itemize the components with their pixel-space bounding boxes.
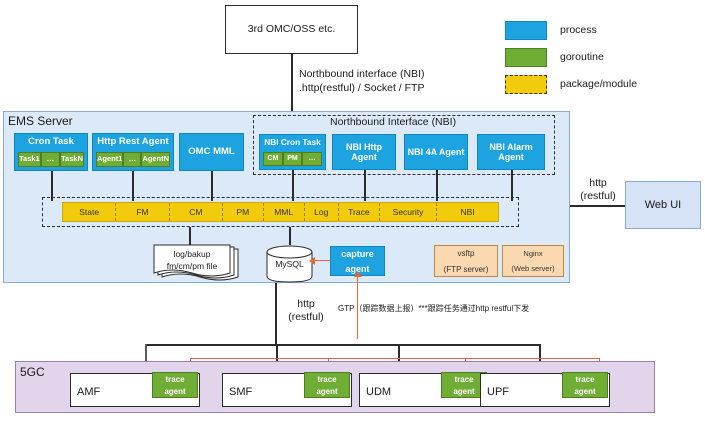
module-bar: State FM CM PM MML Log Trace Security NB…: [62, 202, 499, 222]
goroutine-nbi-cm: CM: [263, 152, 283, 166]
goroutine-task1: Task1: [18, 152, 41, 167]
database-label: MySQL: [265, 260, 314, 270]
server-nginx-line1: Nginx: [503, 246, 563, 262]
nbi-note-line2: .http(restful) / Socket / FTP: [299, 82, 424, 96]
middle-http-label-line1: http: [283, 298, 329, 312]
legend-label-process: process: [560, 24, 597, 38]
module-log[interactable]: Log: [305, 203, 339, 221]
database-cylinder: MySQL: [265, 245, 314, 283]
goroutine-agent1: Agent1: [96, 152, 123, 167]
ems-server-title: EMS Server: [8, 114, 73, 128]
webui-link-label-line1: http: [575, 177, 621, 191]
server-nginx-line2: (Web server): [503, 262, 563, 277]
module-mml[interactable]: MML: [264, 203, 305, 221]
oss-to-ems-connector: [291, 54, 293, 111]
file-store-stack: log/bakup fm/cm/pm file: [150, 243, 242, 285]
goroutine-agent-ellipsis: …: [123, 152, 141, 167]
process-nbi-cron-task-label: NBI Cron Task: [260, 135, 325, 151]
process-cron-task-label: Cron Task: [15, 134, 87, 151]
legend-swatch-process: [505, 21, 547, 40]
server-vsftp-line1: vsftp: [435, 246, 497, 262]
module-nbi[interactable]: NBI: [437, 203, 498, 221]
trace-agent-smf[interactable]: trace agent: [304, 372, 350, 398]
trace-agent-smf-line1: trace: [305, 373, 349, 386]
trace-agent-upf-line1: trace: [563, 373, 607, 386]
legend-label-goroutine: goroutine: [560, 51, 604, 65]
module-trace[interactable]: Trace: [339, 203, 380, 221]
legend-swatch-package-module: [505, 75, 547, 94]
gtp-note: GTP（跟踪数据上报）***跟踪任务通过http restful下发: [338, 303, 598, 314]
process-cron-task[interactable]: Cron Task Task1 … TaskN: [14, 133, 88, 171]
nbi-note-line1: Northbound interface (NBI): [299, 68, 424, 82]
legend: process goroutine package/module: [505, 18, 700, 96]
module-pm[interactable]: PM: [223, 203, 264, 221]
trace-agent-smf-line2: agent: [305, 386, 349, 398]
process-http-rest-agent-label: Http Rest Agent: [93, 134, 173, 151]
trace-agent-amf-line2: agent: [153, 386, 197, 398]
web-ui-box[interactable]: Web UI: [625, 181, 701, 229]
middle-http-label-line2: (restful): [280, 311, 332, 325]
module-security[interactable]: Security: [380, 203, 438, 221]
server-vsftp: vsftp (FTP server): [434, 245, 498, 277]
server-nginx: Nginx (Web server): [502, 245, 564, 277]
module-state[interactable]: State: [63, 203, 116, 221]
third-party-omc-oss-box: 3rd OMC/OSS etc.: [225, 5, 358, 54]
goroutine-taskn: TaskN: [60, 152, 84, 167]
process-nbi-alarm-agent[interactable]: NBI Alarm Agent: [477, 134, 545, 170]
process-nbi-cron-task[interactable]: NBI Cron Task CM PM …: [259, 134, 326, 170]
process-http-rest-agent[interactable]: Http Rest Agent Agent1 … AgentN: [92, 133, 174, 171]
goroutine-agentn: AgentN: [141, 152, 170, 167]
nf-node-udm-label: UDM: [366, 385, 391, 399]
file-store-label-line2: fm/cm/pm file: [154, 262, 230, 272]
ems-to-webui-link: [570, 205, 625, 207]
nf-distribution-bus: [145, 344, 540, 346]
process-nbi-4a-agent[interactable]: NBI 4A Agent: [404, 134, 468, 170]
webui-link-label-line2: (restful): [572, 190, 624, 204]
nf-node-smf-label: SMF: [229, 385, 252, 399]
modules-to-database-line: [289, 227, 291, 245]
trace-agent-amf-line1: trace: [153, 373, 197, 386]
process-nbi-http-agent[interactable]: NBI Http Agent: [332, 134, 396, 170]
ems-to-5gc-http-line: [275, 283, 277, 344]
trace-agent-upf-line2: agent: [563, 386, 607, 398]
goroutine-nbi-ellipsis: …: [302, 152, 322, 166]
server-vsftp-line2: (FTP server): [435, 262, 497, 277]
nf-node-amf-label: AMF: [77, 385, 100, 399]
module-cm[interactable]: CM: [170, 203, 223, 221]
legend-swatch-goroutine: [505, 48, 547, 67]
goroutine-task-ellipsis: …: [41, 152, 60, 167]
fivegc-title: 5GC: [20, 365, 45, 379]
trace-agent-amf[interactable]: trace agent: [152, 372, 198, 398]
process-omc-mml[interactable]: OMC MML: [179, 133, 244, 171]
capture-agent-to-database-arrow: [314, 260, 330, 261]
goroutine-nbi-pm: PM: [283, 152, 303, 166]
nf-node-upf-label: UPF: [487, 385, 509, 399]
file-store-label-line1: log/bakup: [154, 250, 230, 260]
trace-collection-bus: [190, 358, 600, 359]
northbound-interface-group-title: Northbound Interface (NBI): [330, 116, 456, 130]
trace-agent-upf[interactable]: trace agent: [562, 372, 608, 398]
module-fm[interactable]: FM: [116, 203, 169, 221]
legend-label-package-module: package/module: [560, 78, 637, 92]
capture-agent-label-line1: capture: [331, 247, 384, 262]
